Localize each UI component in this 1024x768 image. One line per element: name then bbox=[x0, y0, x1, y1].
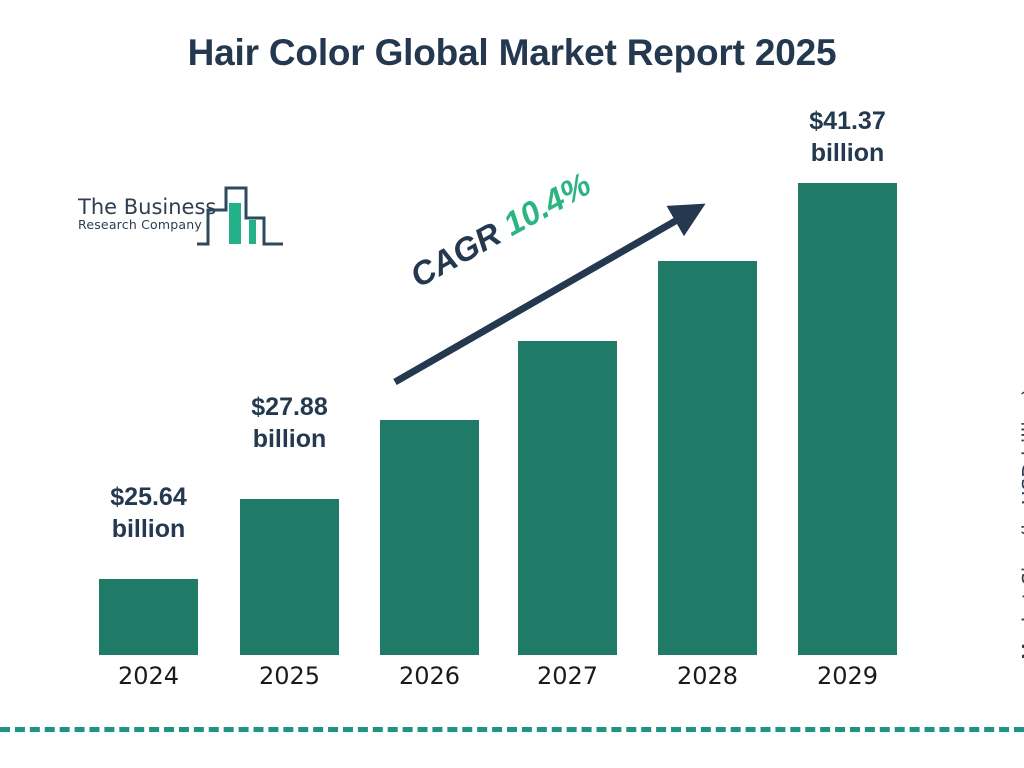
bar-value-label-2025: $27.88 billion bbox=[221, 391, 358, 455]
x-axis-tick-2028: 2028 bbox=[658, 662, 757, 690]
bar-2024[interactable] bbox=[99, 579, 198, 655]
bar-2028[interactable] bbox=[658, 261, 757, 655]
chart-page: Hair Color Global Market Report 2025 The… bbox=[0, 0, 1024, 768]
x-axis-tick-2029: 2029 bbox=[798, 662, 897, 690]
bar-value-label-2029: $41.37 billion bbox=[779, 105, 916, 169]
y-axis-title: Market Size (in USD billion) bbox=[1018, 330, 1024, 660]
bar-2027[interactable] bbox=[518, 341, 617, 655]
bar-value-label-2024: $25.64 billion bbox=[80, 481, 217, 545]
x-axis-tick-2024: 2024 bbox=[99, 662, 198, 690]
x-axis-tick-2025: 2025 bbox=[240, 662, 339, 690]
x-axis-tick-2027: 2027 bbox=[518, 662, 617, 690]
bar-2025[interactable] bbox=[240, 499, 339, 655]
bar-2029[interactable] bbox=[798, 183, 897, 655]
bar-2026[interactable] bbox=[380, 420, 479, 655]
footer-divider bbox=[0, 727, 1024, 732]
bar-chart-plot-area: $25.64 billion 2024 $27.88 billion 2025 … bbox=[0, 0, 1024, 768]
x-axis-tick-2026: 2026 bbox=[380, 662, 479, 690]
